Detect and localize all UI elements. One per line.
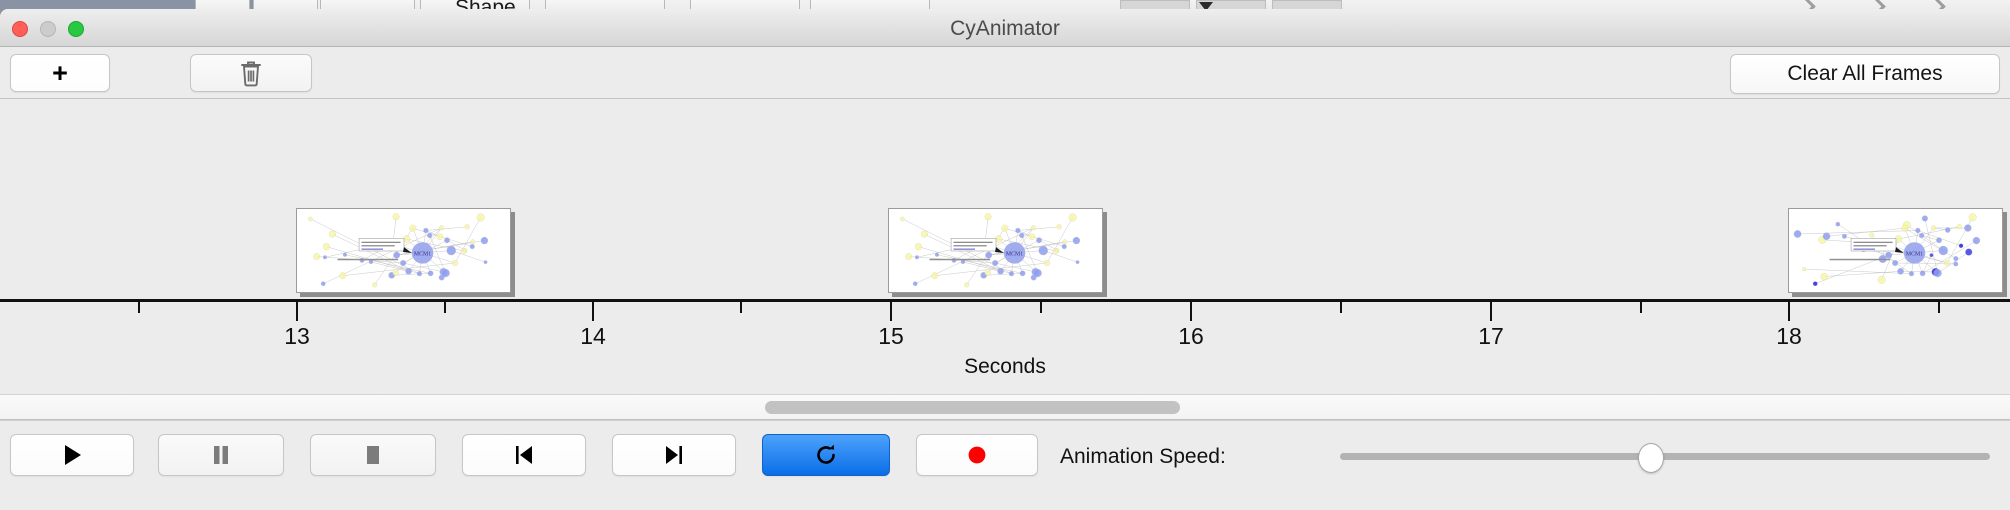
timeline-ruler[interactable]: 12131415161718 Seconds [0, 299, 2010, 394]
clear-all-frames-button[interactable]: Clear All Frames [1730, 54, 2000, 94]
record-button[interactable] [916, 434, 1038, 476]
playback-controls: Animation Speed: [0, 420, 2010, 490]
loop-icon [813, 442, 839, 468]
timeline-frame[interactable]: MCM1 [888, 208, 1103, 293]
axis-title: Seconds [0, 355, 2010, 379]
ruler-tick-minor [1938, 302, 1940, 313]
timeline-frame[interactable]: MCM1 [1788, 208, 2003, 293]
skip-forward-icon [661, 442, 687, 468]
ruler-tick-label: 18 [1776, 323, 1802, 350]
timeline-frame[interactable]: MCM1 [296, 208, 511, 293]
network-thumbnail: MCM1 [297, 209, 510, 292]
ruler-tick-minor [1340, 302, 1342, 313]
ruler-tick-major [890, 302, 892, 321]
stop-icon [361, 442, 385, 468]
play-icon [59, 442, 85, 468]
pause-button[interactable] [158, 434, 284, 476]
frames-toolbar: + Clear All Frames [0, 47, 2010, 99]
ruler-tick-minor [1640, 302, 1642, 313]
ruler-tick-label: 16 [1178, 323, 1204, 350]
animation-speed-slider[interactable] [1340, 453, 1990, 460]
window-titlebar: CyAnimator [0, 9, 2010, 47]
plus-icon: + [52, 60, 68, 87]
ruler-tick-label: 14 [580, 323, 606, 350]
svg-text:MCM1: MCM1 [1906, 251, 1923, 257]
animation-speed-label: Animation Speed: [1060, 445, 1226, 469]
play-button[interactable] [10, 434, 134, 476]
cyanimator-window: CyAnimator + Clear All Frames MCM1MCM1MC… [0, 9, 2010, 510]
window-title: CyAnimator [0, 17, 2010, 41]
ruler-tick-minor [138, 302, 140, 313]
animation-speed-slider-thumb[interactable] [1638, 443, 1664, 473]
loop-button[interactable] [762, 434, 890, 476]
delete-frame-button[interactable] [190, 54, 312, 92]
network-thumbnail: MCM1 [889, 209, 1102, 292]
ruler-tick-minor [740, 302, 742, 313]
ruler-tick-major [592, 302, 594, 321]
ruler-tick-label: 13 [284, 323, 310, 350]
ruler-tick-minor [1040, 302, 1042, 313]
next-button[interactable] [612, 434, 736, 476]
scrollbar-thumb[interactable] [765, 401, 1180, 414]
ruler-tick-major [1788, 302, 1790, 321]
svg-text:MCM1: MCM1 [414, 251, 431, 257]
ruler-tick-major [1490, 302, 1492, 321]
ruler-tick-label: 17 [1478, 323, 1504, 350]
pause-icon [209, 442, 233, 468]
stop-button[interactable] [310, 434, 436, 476]
svg-text:MCM1: MCM1 [1006, 251, 1023, 257]
skip-back-icon [511, 442, 537, 468]
ruler-tick-label: 15 [878, 323, 904, 350]
frames-timeline-panel[interactable]: MCM1MCM1MCM1 [0, 99, 2010, 299]
record-icon [964, 442, 990, 468]
previous-button[interactable] [462, 434, 586, 476]
horizontal-scrollbar[interactable] [0, 394, 2010, 420]
ruler-tick-minor [444, 302, 446, 313]
add-frame-button[interactable]: + [10, 54, 110, 92]
trash-icon [239, 59, 263, 87]
clear-all-frames-label: Clear All Frames [1787, 62, 1942, 86]
ruler-tick-major [296, 302, 298, 321]
network-thumbnail: MCM1 [1789, 209, 2002, 292]
ruler-baseline [0, 299, 2010, 302]
ruler-tick-major [1190, 302, 1192, 321]
